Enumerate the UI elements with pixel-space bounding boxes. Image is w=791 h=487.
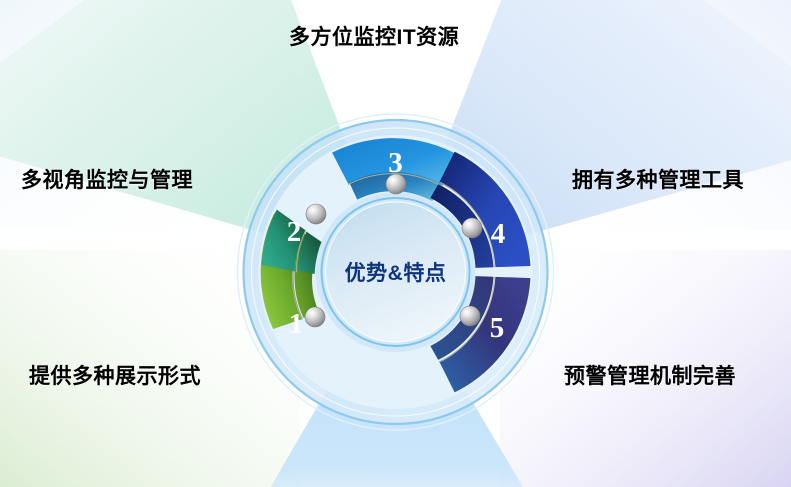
label-segment-4: 拥有多种管理工具 <box>572 170 744 191</box>
segment-5-marker-sphere[interactable] <box>460 306 480 326</box>
segment-4-marker-sphere[interactable] <box>462 218 482 238</box>
infographic-canvas: 1 2 3 4 5 优势&特点 多方位监控IT资源 多视角监控与管理 拥有多种管… <box>0 0 791 487</box>
label-segment-5: 预警管理机制完善 <box>564 366 736 387</box>
segment-2-number: 2 <box>287 216 302 248</box>
segment-5-number: 5 <box>490 312 505 344</box>
segment-1-marker-sphere[interactable] <box>305 307 325 327</box>
segment-1-number: 1 <box>289 308 304 340</box>
segment-4-number: 4 <box>491 218 506 250</box>
center-label: 优势&特点 <box>345 261 447 285</box>
segment-2-marker-sphere[interactable] <box>306 204 326 224</box>
label-segment-3: 多方位监控IT资源 <box>289 27 459 48</box>
label-segment-2: 多视角监控与管理 <box>21 170 193 191</box>
label-segment-1: 提供多种展示形式 <box>29 366 201 387</box>
wheel-diagram: 1 2 3 4 5 优势&特点 <box>0 0 791 487</box>
segment-3-marker-sphere[interactable] <box>386 174 406 194</box>
